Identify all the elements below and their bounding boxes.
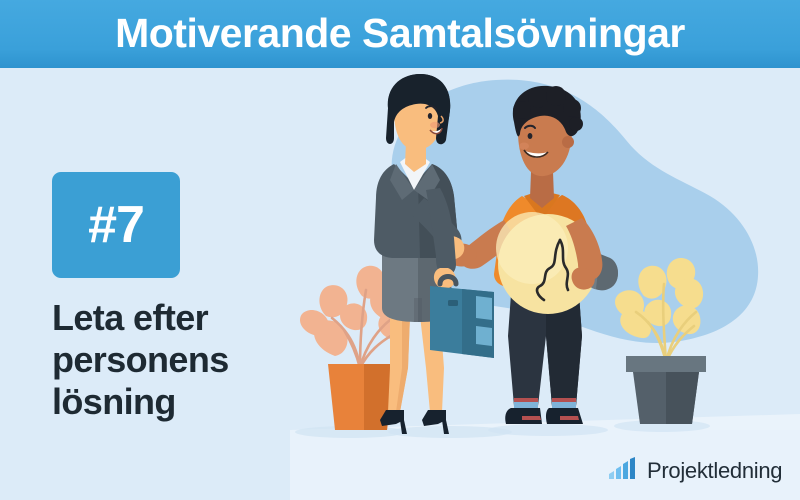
man-shoe-right-stripe [560, 416, 579, 420]
number-badge: #7 [52, 172, 180, 278]
woman-blush [430, 122, 440, 128]
badge-label: #7 [88, 199, 144, 251]
man-hair-curl-4 [563, 99, 581, 117]
shadow-man [488, 424, 608, 436]
subtitle-heading: Leta efter personens lösning [52, 297, 282, 422]
plant-right-pot-rim [626, 356, 706, 372]
briefcase-pocket [476, 296, 492, 320]
man-eye [528, 133, 533, 139]
man-sock-left-band [514, 398, 538, 402]
briefcase-pocket-2 [476, 326, 492, 346]
man-ear [562, 136, 574, 148]
man-hair-curl-3 [546, 86, 566, 106]
man-hair-curl-5 [569, 117, 583, 131]
subtitle-line-2: personens [52, 339, 282, 381]
handshake-illustration [290, 68, 800, 500]
subtitle-line-3: lösning [52, 381, 282, 423]
man-blush [519, 143, 529, 150]
man-hair-curl-1 [513, 101, 531, 119]
page-title: Motiverande Samtalsövningar [115, 13, 685, 54]
woman-skirt-slit [414, 298, 422, 322]
header-banner: Motiverande Samtalsövningar [0, 0, 800, 68]
man-sock-right-band [552, 398, 576, 402]
logo-text: Projektledning [647, 460, 782, 482]
subtitle-line-1: Leta efter [52, 297, 282, 339]
woman-eye [428, 113, 432, 119]
bar-chart-icon [608, 456, 640, 485]
poster-canvas: Motiverande Samtalsövningar #7 Leta efte… [0, 0, 800, 500]
man-hair-curl-2 [528, 88, 548, 108]
plant-right-pot-shade [666, 372, 699, 424]
woman-shoe-right [422, 410, 446, 426]
man-shoe-left-stripe [522, 416, 541, 420]
brand-logo[interactable]: Projektledning [608, 456, 782, 485]
briefcase-latch [448, 300, 458, 306]
